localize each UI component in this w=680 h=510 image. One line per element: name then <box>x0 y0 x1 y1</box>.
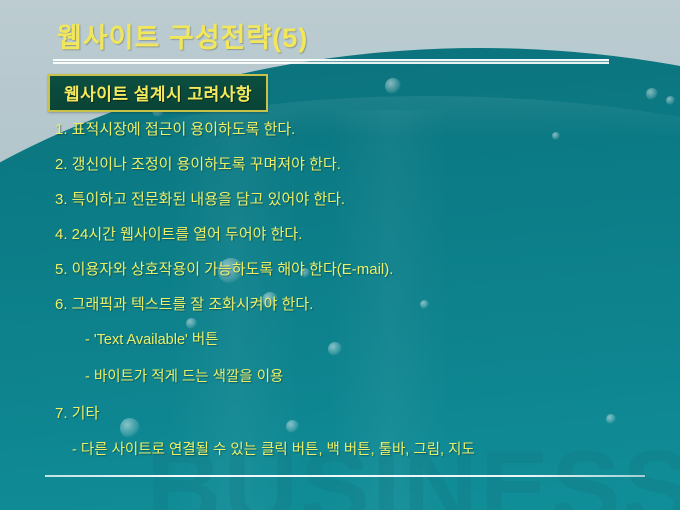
list-item: - 다른 사이트로 연결될 수 있는 클릭 버튼, 백 버튼, 툴바, 그림, … <box>72 432 680 469</box>
list-item: 7. 기타 <box>55 396 680 432</box>
content-list: 1. 표적시장에 접근이 용이하도록 한다.2. 갱신이나 조정이 용이하도록 … <box>0 112 680 469</box>
list-item: 2. 갱신이나 조정이 용이하도록 꾸며져야 한다. <box>55 147 680 182</box>
bottom-divider <box>45 475 645 477</box>
list-item: - 바이트가 적게 드는 색깔을 이용 <box>85 359 680 396</box>
list-item: - 'Text Available' 버튼 <box>85 322 680 359</box>
list-item: 6. 그래픽과 텍스트를 잘 조화시켜야 한다. <box>55 287 680 322</box>
list-item: 5. 이용자와 상호작용이 가능하도록 해야 한다(E-mail). <box>55 252 680 287</box>
subtitle-label: 웹사이트 설계시 고려사항 <box>64 80 252 105</box>
title-divider <box>53 59 609 64</box>
list-item: 1. 표적시장에 접근이 용이하도록 한다. <box>55 112 680 147</box>
slide-title: 웹사이트 구성전략(5) <box>57 16 308 55</box>
presentation-slide: BUSINESS 웹사이트 구성전략(5) 웹사이트 설계시 고려사항 1. 표… <box>0 0 680 510</box>
list-item: 4. 24시간 웹사이트를 열어 두어야 한다. <box>55 217 680 252</box>
list-item: 3. 특이하고 전문화된 내용을 담고 있어야 한다. <box>55 182 680 217</box>
subtitle-box: 웹사이트 설계시 고려사항 <box>48 74 268 112</box>
